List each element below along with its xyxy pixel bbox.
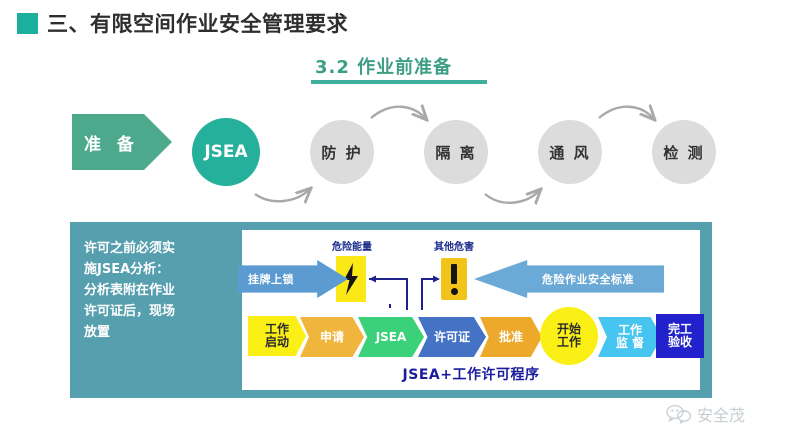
process-step-permit[interactable]: 许可证	[418, 317, 486, 357]
flow-node-ventilation-label: 通 风	[549, 142, 590, 163]
flow-node-detection[interactable]: 检 测	[652, 120, 716, 184]
line: 监 督	[616, 337, 644, 350]
process-step-jsea-label: JSEA	[376, 331, 407, 344]
flow-node-jsea-label: JSEA	[204, 142, 247, 162]
flow-node-isolation-label: 隔 离	[435, 142, 476, 163]
panel-note-line: 施JSEA分析：	[84, 259, 236, 280]
slide-page: 三、有限空间作业安全管理要求 3.2 作业前准备 准 备 JSEA 防 护	[0, 0, 798, 432]
panel-note-line: 分析表附在作业	[84, 280, 236, 301]
process-step-permit-label: 许可证	[434, 331, 470, 344]
jsea-diagram-canvas: 危险能量 其他危害 挂牌上锁 危险作业安全标准	[242, 230, 700, 390]
flow-step-preparation-label: 准 备	[84, 130, 139, 155]
process-step-work-start-label: 工作 启动	[265, 323, 289, 349]
slide-header: 三、有限空间作业安全管理要求	[0, 0, 798, 44]
flow-node-jsea[interactable]: JSEA	[192, 118, 260, 186]
wechat-icon	[666, 404, 692, 424]
header-bullet-square	[17, 13, 38, 34]
process-step-application-label: 申请	[320, 331, 344, 344]
diagram-caption: JSEA+工作许可程序	[242, 364, 700, 384]
process-step-work-supervision[interactable]: 工作 监 督	[598, 317, 662, 357]
panel-note-line: 许可证后，现场	[84, 301, 236, 322]
preparation-flow: 准 备 JSEA 防 护 隔 离 通 风 检 测	[0, 96, 798, 206]
process-step-completion-acceptance[interactable]: 完工 验收	[656, 314, 704, 358]
process-step-application[interactable]: 申请	[300, 317, 364, 357]
process-step-work-start[interactable]: 工作 启动	[248, 316, 306, 356]
flow-node-isolation[interactable]: 隔 离	[424, 120, 488, 184]
watermark-text: 安全茂	[697, 402, 745, 426]
line: 工作	[557, 336, 581, 349]
flow-node-ventilation[interactable]: 通 风	[538, 120, 602, 184]
process-step-approval-label: 批准	[499, 331, 523, 344]
exclamation-warning-icon	[441, 258, 467, 300]
flow-step-preparation[interactable]: 准 备	[72, 114, 172, 170]
flow-node-protection-label: 防 护	[321, 142, 362, 163]
process-step-approval[interactable]: 批准	[480, 317, 542, 357]
process-step-jsea[interactable]: JSEA	[358, 317, 424, 357]
panel-note-text: 许可之前必须实 施JSEA分析： 分析表附在作业 许可证后，现场 放置	[84, 238, 236, 343]
watermark: 安全茂	[666, 402, 745, 426]
label-other-hazard: 其他危害	[434, 238, 474, 253]
work-permit-process-chain: 工作 启动 申请 JSEA 许可证 批准 开始	[248, 316, 700, 360]
flow-node-protection[interactable]: 防 护	[310, 120, 374, 184]
line: 启动	[265, 336, 289, 349]
panel-note-line: 许可之前必须实	[84, 238, 236, 259]
arrow-lockout-tagout-label: 挂牌上锁	[248, 271, 294, 287]
panel-note-line: 放置	[84, 322, 236, 343]
exclamation-bar	[451, 264, 457, 284]
line: 验收	[668, 336, 692, 349]
process-step-work-supervision-label: 工作 监 督	[616, 324, 644, 350]
jsea-diagram-panel: 许可之前必须实 施JSEA分析： 分析表附在作业 许可证后，现场 放置 危险能量…	[70, 222, 712, 398]
section-underline	[311, 80, 487, 84]
flow-node-detection-label: 检 测	[663, 142, 704, 163]
arrow-hazardous-work-standard-label: 危险作业安全标准	[542, 271, 634, 287]
exclamation-dot	[451, 288, 458, 295]
process-step-start-work[interactable]: 开始 工作	[540, 307, 598, 365]
page-title: 三、有限空间作业安全管理要求	[47, 8, 348, 38]
section-heading: 3.2 作业前准备	[315, 53, 452, 79]
label-hazard-energy: 危险能量	[332, 238, 372, 253]
